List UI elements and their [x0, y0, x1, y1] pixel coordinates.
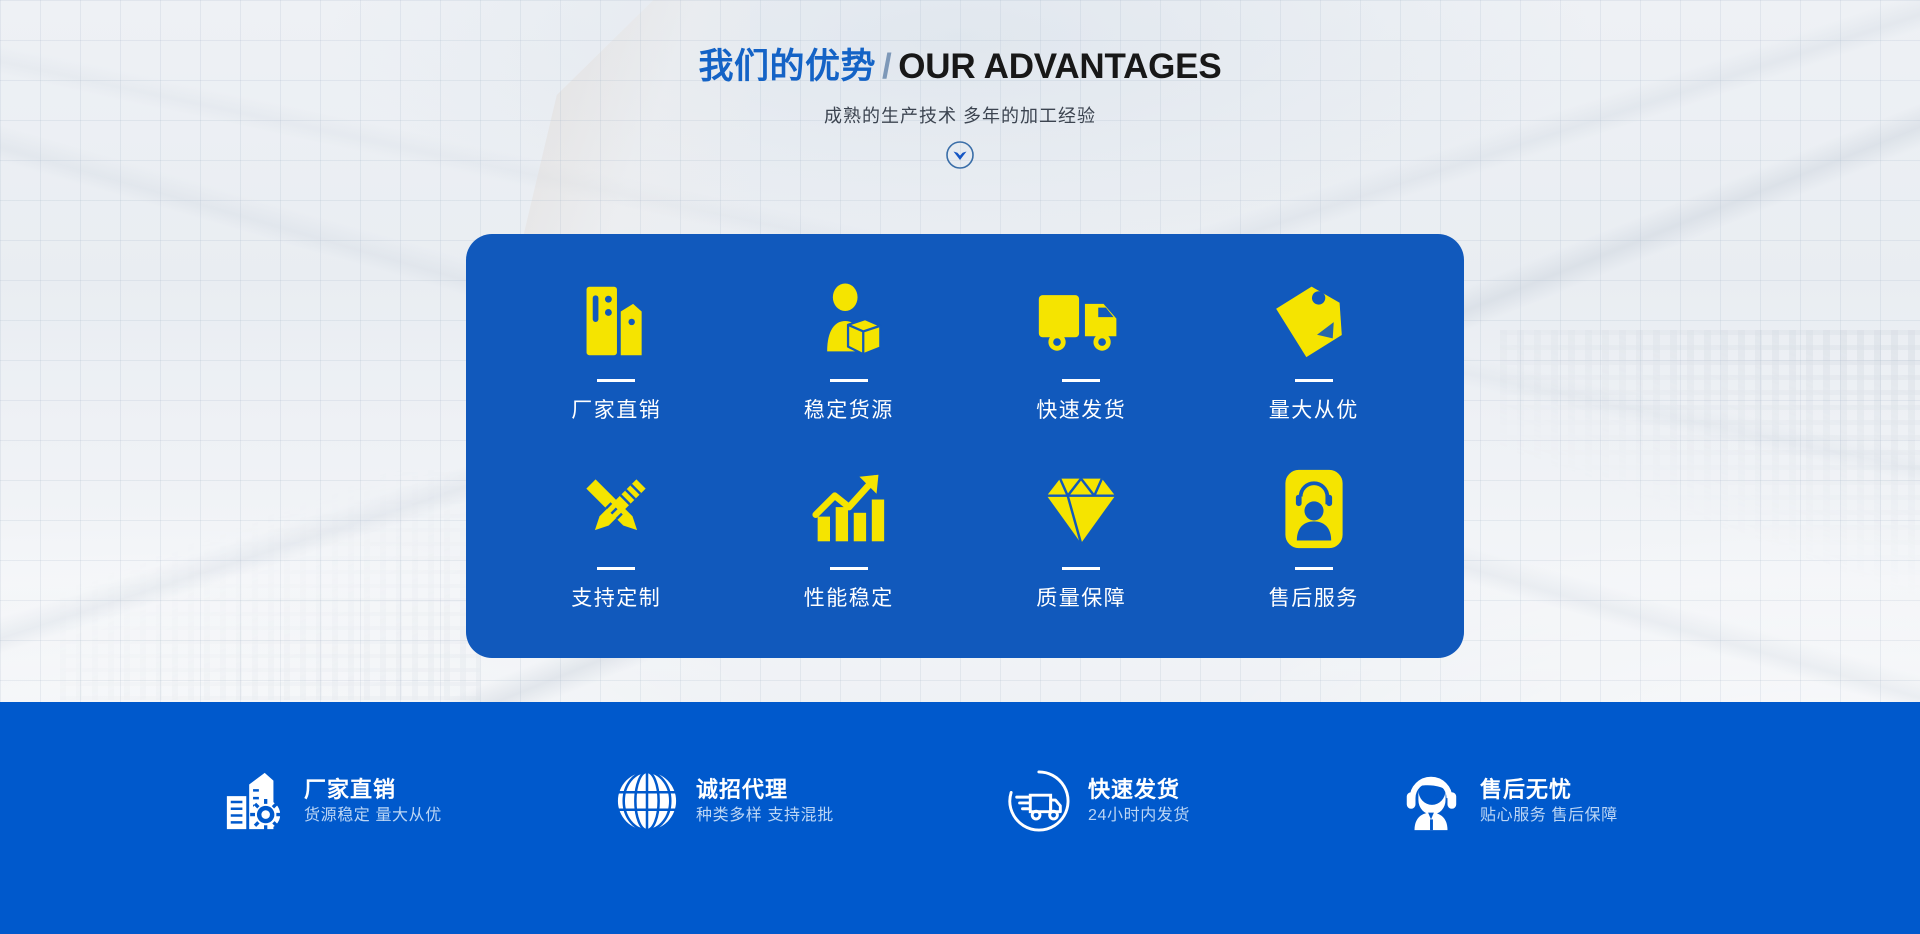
page-subtitle: 成熟的生产技术 多年的加工经验 — [0, 102, 1920, 128]
label-divider — [1295, 379, 1333, 382]
label-divider — [597, 379, 635, 382]
advantage-label: 厂家直销 — [571, 394, 661, 424]
service-text: 快速发货 24小时内发货 — [1088, 775, 1190, 828]
service-title: 售后无忧 — [1480, 775, 1618, 805]
service-title: 厂家直销 — [304, 775, 442, 805]
price-tag-icon — [1271, 277, 1357, 365]
section-heading: 我们的优势/OUR ADVANTAGES 成熟的生产技术 多年的加工经验 — [0, 46, 1920, 170]
advantage-item[interactable]: 性能稳定 — [733, 444, 966, 632]
diamond-icon — [1037, 465, 1125, 553]
person-with-box-icon — [806, 277, 892, 365]
label-divider — [1295, 567, 1333, 570]
advantage-item[interactable]: 稳定货源 — [733, 256, 966, 444]
factory-building-icon — [573, 277, 659, 365]
service-subtitle: 货源稳定 量大从优 — [304, 804, 442, 827]
page-title: 我们的优势/OUR ADVANTAGES — [0, 46, 1920, 88]
page-title-en: OUR ADVANTAGES — [898, 47, 1221, 86]
advantage-label: 快速发货 — [1036, 394, 1126, 424]
advantages-grid: 厂家直销 稳定货源 — [466, 234, 1464, 658]
service-item[interactable]: 快速发货 24小时内发货 — [1006, 768, 1306, 834]
advantage-label: 售后服务 — [1269, 582, 1359, 612]
service-item[interactable]: 厂家直销 货源稳定 量大从优 — [222, 768, 522, 834]
pencil-ruler-icon — [574, 465, 658, 553]
label-divider — [830, 379, 868, 382]
advantage-item[interactable]: 售后服务 — [1198, 444, 1431, 632]
advantage-item[interactable]: 快速发货 — [965, 256, 1198, 444]
service-title: 诚招代理 — [696, 775, 834, 805]
headset-agent-icon — [1398, 768, 1464, 834]
advantage-item[interactable]: 支持定制 — [500, 444, 733, 632]
service-subtitle: 贴心服务 售后保障 — [1480, 804, 1618, 827]
advantage-item[interactable]: 量大从优 — [1198, 256, 1431, 444]
page-title-separator: / — [882, 47, 892, 86]
bar-chart-growth-icon — [806, 465, 892, 553]
service-text: 诚招代理 种类多样 支持混批 — [696, 775, 834, 828]
truck-circle-icon — [1006, 768, 1072, 834]
advantages-panel: 厂家直销 稳定货源 — [466, 234, 1464, 658]
service-item[interactable]: 诚招代理 种类多样 支持混批 — [614, 768, 914, 834]
label-divider — [1062, 379, 1100, 382]
advantage-item[interactable]: 质量保障 — [965, 444, 1198, 632]
advantages-page: 我们的优势/OUR ADVANTAGES 成熟的生产技术 多年的加工经验 — [0, 0, 1920, 934]
page-title-cn: 我们的优势 — [699, 47, 877, 86]
chevron-down-circle-icon[interactable] — [945, 140, 975, 170]
advantage-label: 支持定制 — [571, 582, 661, 612]
service-subtitle: 种类多样 支持混批 — [696, 804, 834, 827]
service-item[interactable]: 售后无忧 贴心服务 售后保障 — [1398, 768, 1698, 834]
service-subtitle: 24小时内发货 — [1088, 804, 1190, 827]
label-divider — [597, 567, 635, 570]
advantage-label: 质量保障 — [1036, 582, 1126, 612]
headset-support-icon — [1279, 465, 1349, 553]
service-bar: 厂家直销 货源稳定 量大从优 诚招代理 种类多样 支持混批 — [0, 702, 1920, 934]
advantage-label: 稳定货源 — [804, 394, 894, 424]
label-divider — [1062, 567, 1100, 570]
advantage-label: 量大从优 — [1269, 394, 1359, 424]
factory-gear-icon — [222, 768, 288, 834]
label-divider — [830, 567, 868, 570]
service-title: 快速发货 — [1088, 775, 1190, 805]
advantage-item[interactable]: 厂家直销 — [500, 256, 733, 444]
advantage-label: 性能稳定 — [804, 582, 894, 612]
service-text: 售后无忧 贴心服务 售后保障 — [1480, 775, 1618, 828]
globe-icon — [614, 768, 680, 834]
service-text: 厂家直销 货源稳定 量大从优 — [304, 775, 442, 828]
delivery-truck-icon — [1035, 277, 1127, 365]
